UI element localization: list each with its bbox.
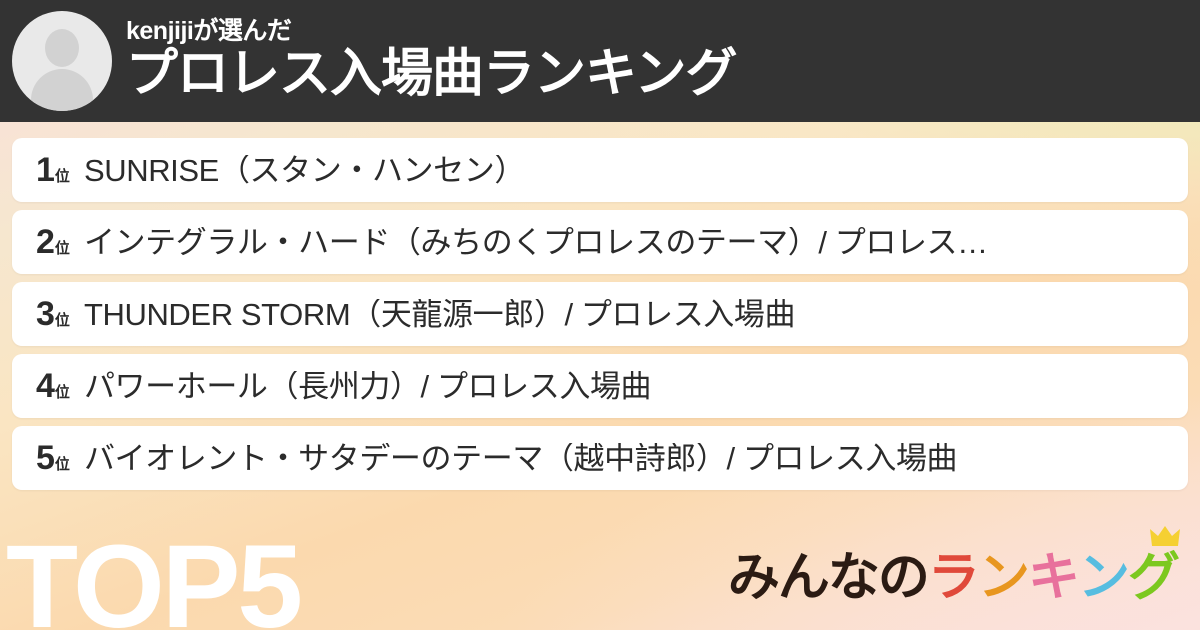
rank-item-title: インテグラル・ハード（みちのくプロレスのテーマ）/ プロレス… (84, 227, 988, 258)
rank-item-title: SUNRISE（スタン・ハンセン） (84, 155, 525, 186)
rank-badge: 3 位 (36, 297, 70, 331)
brand-char-6: キ (1028, 552, 1078, 604)
rank-number: 5 (36, 441, 54, 475)
rank-unit-label: 位 (55, 241, 70, 256)
brand-char-1: ん (778, 552, 828, 604)
ranking-share-card: kenjijiが選んだ プロレス入場曲ランキング 1 位 SUNRISE（スタン… (0, 0, 1200, 630)
rank-unit-label: 位 (55, 313, 70, 328)
avatar-body-shape (31, 69, 93, 111)
brand-char-8: グ (1128, 552, 1178, 604)
avatar-head-shape (45, 29, 79, 67)
header-bar: kenjijiが選んだ プロレス入場曲ランキング (0, 0, 1200, 122)
brand-char-4: ラ (928, 552, 978, 604)
crown-icon (1150, 526, 1180, 548)
rank-unit-label: 位 (55, 385, 70, 400)
rank-badge: 2 位 (36, 225, 70, 259)
rank-badge: 1 位 (36, 153, 70, 187)
list-item[interactable]: 4 位 パワーホール（長州力）/ プロレス入場曲 (12, 354, 1188, 418)
user-avatar-icon (12, 11, 112, 111)
brand-char-2: な (828, 552, 878, 604)
brand-char-0: み (728, 552, 778, 604)
rank-number: 3 (36, 297, 54, 331)
ranking-list: 1 位 SUNRISE（スタン・ハンセン） 2 位 インテグラル・ハード（みちの… (12, 138, 1188, 490)
rank-item-title: THUNDER STORM（天龍源一郎）/ プロレス入場曲 (84, 299, 795, 330)
brand-char-5: ン (978, 552, 1028, 604)
page-title: プロレス入場曲ランキング (126, 46, 736, 102)
brand-char-7: ン (1078, 552, 1128, 604)
list-item[interactable]: 3 位 THUNDER STORM（天龍源一郎）/ プロレス入場曲 (12, 282, 1188, 346)
list-item[interactable]: 1 位 SUNRISE（スタン・ハンセン） (12, 138, 1188, 202)
rank-unit-label: 位 (55, 169, 70, 184)
rank-item-title: バイオレント・サタデーのテーマ（越中詩郎）/ プロレス入場曲 (84, 443, 957, 474)
list-item[interactable]: 2 位 インテグラル・ハード（みちのくプロレスのテーマ）/ プロレス… (12, 210, 1188, 274)
rank-item-title: パワーホール（長州力）/ プロレス入場曲 (84, 371, 651, 402)
rank-number: 1 (36, 153, 54, 187)
rank-badge: 5 位 (36, 441, 70, 475)
header-text-group: kenjijiが選んだ プロレス入場曲ランキング (126, 18, 736, 104)
rank-number: 4 (36, 369, 54, 403)
rank-unit-label: 位 (55, 457, 70, 472)
brand-char-3: の (878, 552, 928, 604)
rank-badge: 4 位 (36, 369, 70, 403)
list-item[interactable]: 5 位 バイオレント・サタデーのテーマ（越中詩郎）/ プロレス入場曲 (12, 426, 1188, 490)
top5-watermark: TOP5 (6, 528, 300, 630)
author-byline: kenjijiが選んだ (126, 18, 736, 44)
brand-logo: みんなのランキング (728, 552, 1178, 604)
rank-number: 2 (36, 225, 54, 259)
